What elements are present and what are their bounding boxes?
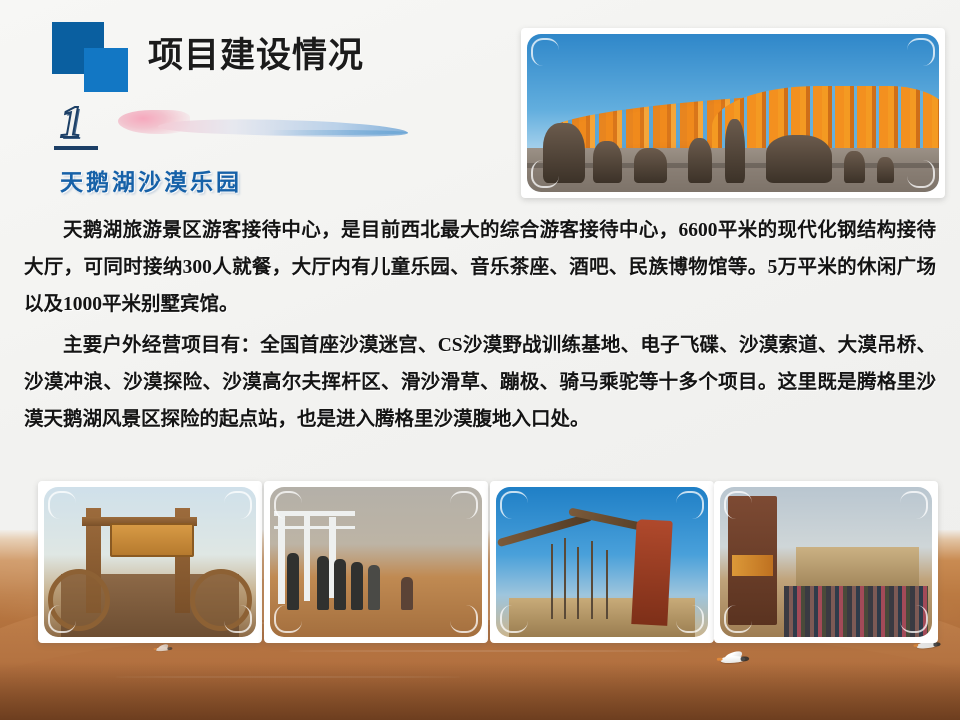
thumbnail-photo-desert-cableway[interactable]: [270, 487, 482, 637]
thumbnail-photo-cs-group-photo[interactable]: [720, 487, 932, 637]
slide-canvas: 项目建设情况 1 天鹅湖沙漠乐园 天鹅湖旅游景区游客接待中心，是目前西北最大: [0, 0, 960, 720]
thumbnail-frame[interactable]: [490, 481, 714, 643]
swan-icon: [153, 644, 172, 652]
section-subtitle: 天鹅湖沙漠乐园: [60, 163, 242, 197]
thumbnail-frame[interactable]: [714, 481, 938, 643]
swan-feather-decoration-icon: [118, 108, 408, 144]
paragraph-1: 天鹅湖旅游景区游客接待中心，是目前西北最大的综合游客接待中心，6600平米的现代…: [24, 212, 936, 323]
swan-icon: [717, 651, 750, 665]
section-number: 1: [60, 99, 83, 145]
page-title: 项目建设情况: [148, 27, 364, 78]
logo-square-light-icon: [84, 48, 128, 92]
hero-photo: [527, 34, 939, 192]
section-number-underline: [54, 146, 98, 150]
thumbnail-frame[interactable]: [264, 481, 488, 643]
thumbnail-photo-desert-maze-gate[interactable]: [44, 487, 256, 637]
body-text: 天鹅湖旅游景区游客接待中心，是目前西北最大的综合游客接待中心，6600平米的现代…: [24, 212, 936, 442]
thumbnail-photo-desert-tribe-monument[interactable]: [496, 487, 708, 637]
hero-photo-frame: [521, 28, 945, 198]
thumbnail-frame[interactable]: [38, 481, 262, 643]
paragraph-2: 主要户外经营项目有：全国首座沙漠迷宫、CS沙漠野战训练基地、电子飞碟、沙漠索道、…: [24, 327, 936, 438]
